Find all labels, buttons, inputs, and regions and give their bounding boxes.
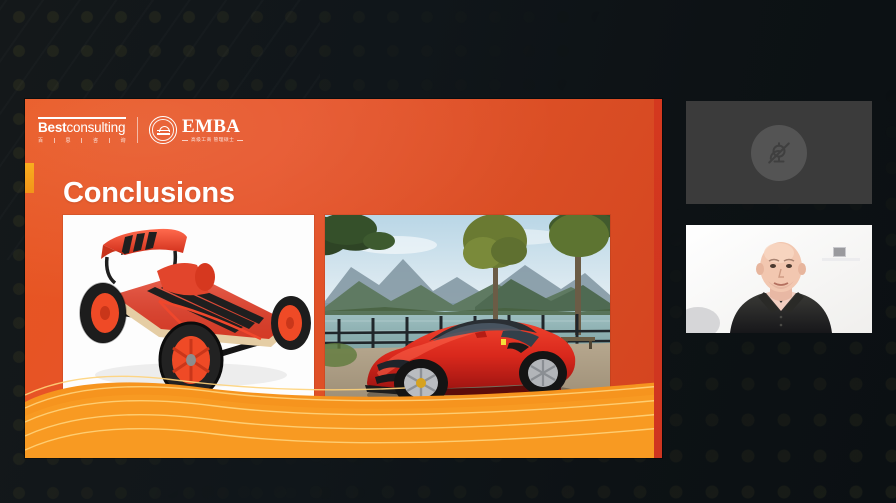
emba-sub-text: 高级工商 管理硕士 [191,138,234,143]
logo-rule [38,117,126,119]
logo-divider [137,117,138,143]
pedal-kart-illustration [63,215,314,409]
meeting-screen: Bestconsulting 百 思 咨 询 EMBA 高级工商 管理 [0,0,896,503]
university-seal-icon [149,116,177,144]
seal-emblem-mark [157,126,170,135]
cn-char-3: 咨 [93,137,99,144]
cn-char-4: 询 [120,137,126,144]
page-title: Conclusions [63,177,235,210]
wall-shelf-line [822,258,860,261]
wall-mounted-device [833,247,846,257]
slide-image-pedal-kart [63,215,314,409]
slide-logo-bar: Bestconsulting 百 思 咨 询 EMBA 高级工商 管理 [38,113,243,147]
slide-image-sports-car [325,215,610,407]
best-consulting-chinese-subtitle: 百 思 咨 询 [38,137,126,144]
camera-off-badge [751,125,807,181]
video-tile-active-speaker[interactable] [686,225,872,333]
emba-text-block: EMBA 高级工商 管理硕士 [182,117,243,143]
logo-word-bold: Best [38,120,66,135]
video-tile-camera-off[interactable] [686,101,872,204]
slide-right-edge-strip [654,99,662,458]
logo-word-regular: consulting [66,120,125,135]
title-accent-bar [25,163,34,193]
camera-off-icon [764,138,794,168]
emba-wordmark: EMBA [182,117,243,136]
best-consulting-logo: Bestconsulting 百 思 咨 询 [38,117,126,144]
speaker-webcam-illustration [686,225,872,333]
emba-logo: EMBA 高级工商 管理硕士 [149,116,243,144]
emba-chinese-subtitle: 高级工商 管理硕士 [182,138,243,143]
shared-slide[interactable]: Bestconsulting 百 思 咨 询 EMBA 高级工商 管理 [25,99,662,458]
sports-car-photo-illustration [325,215,610,407]
cn-char-2: 思 [65,137,71,144]
best-consulting-wordmark: Bestconsulting [38,121,126,135]
cn-char-1: 百 [38,137,44,144]
